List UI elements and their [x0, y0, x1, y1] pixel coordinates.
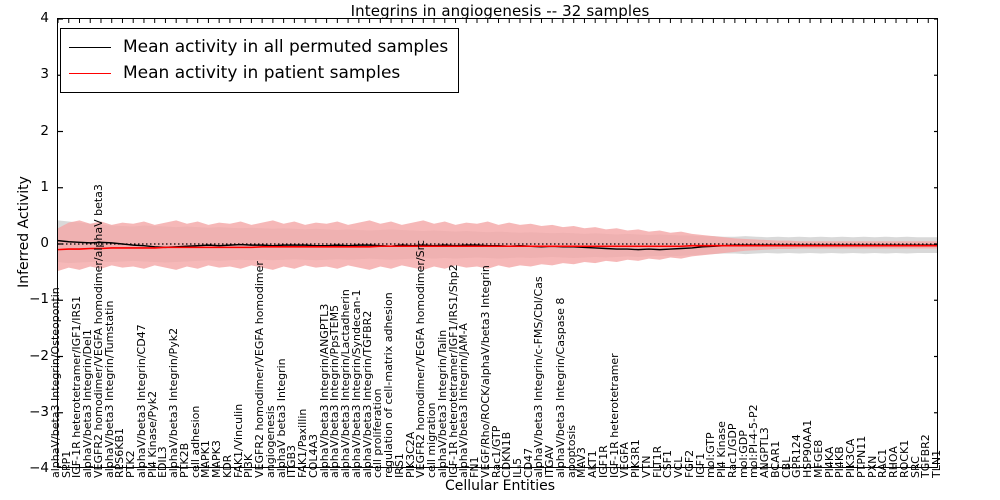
y-axis-title: Inferred Activity: [16, 32, 32, 432]
figure-root: Integrins in angiogenesis -- 32 samples …: [0, 0, 1000, 500]
x-axis-title: Cellular Entities: [0, 478, 1000, 494]
legend-label-permuted: Mean activity in all permuted samples: [123, 37, 448, 57]
legend-item: Mean activity in patient samples: [69, 60, 448, 86]
y-tick-label: −2: [29, 348, 49, 364]
y-tick-label: −1: [29, 291, 49, 307]
y-tick-label: 2: [40, 123, 49, 139]
legend-swatch-patient: [69, 73, 111, 74]
y-tick-label: 3: [40, 66, 49, 82]
legend: Mean activity in all permuted samples Me…: [60, 28, 459, 93]
y-tick-label: 4: [40, 10, 49, 26]
y-tick-label: −3: [29, 404, 49, 420]
legend-item: Mean activity in all permuted samples: [69, 34, 448, 60]
y-tick-label: 1: [40, 179, 49, 195]
legend-label-patient: Mean activity in patient samples: [123, 63, 400, 83]
legend-swatch-permuted: [69, 47, 111, 48]
y-tick-label: −4: [29, 460, 49, 476]
y-axis: Inferred Activity 43210−1−2−3−4: [0, 0, 57, 500]
y-tick-label: 0: [40, 235, 49, 251]
